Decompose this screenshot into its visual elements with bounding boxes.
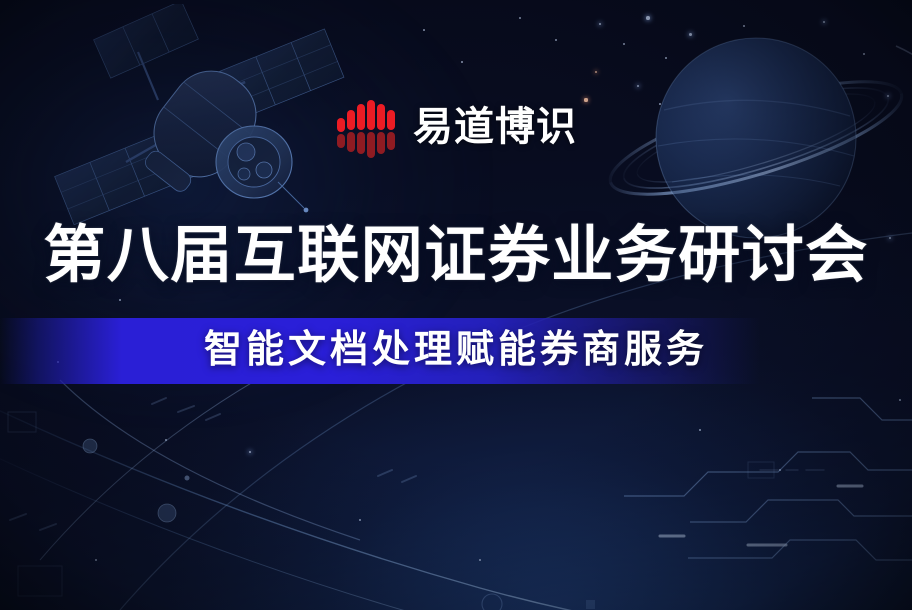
yidao-boshi-logo-icon [335, 96, 399, 158]
conference-poster: 易道博识 第八届互联网证券业务研讨会 智能文档处理赋能券商服务 [0, 0, 912, 610]
subtitle-text: 智能文档处理赋能券商服务 [0, 330, 912, 368]
company-name: 易道博识 [413, 107, 577, 147]
page-title: 第八届互联网证券业务研讨会 [0, 222, 912, 289]
brand-logo: 易道博识 [0, 96, 912, 158]
